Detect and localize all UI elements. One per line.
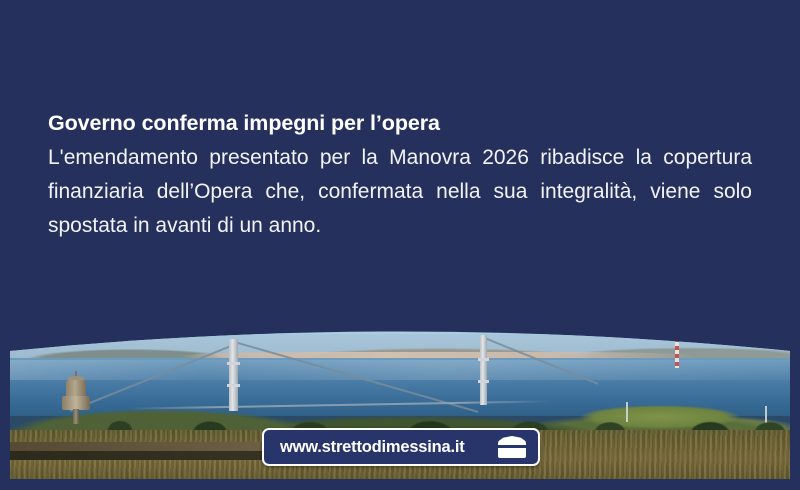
text-block: Governo conferma impegni per l’opera L'e… (48, 108, 752, 243)
sea-shimmer (10, 360, 790, 380)
news-card: Governo conferma impegni per l’opera L'e… (0, 0, 800, 490)
website-url[interactable]: www.strettodimessina.it (280, 438, 465, 457)
logo-arch-lower (498, 448, 526, 458)
website-banner[interactable]: www.strettodimessina.it (262, 428, 540, 466)
striped-chimney (675, 338, 679, 368)
stone-water-tower (62, 376, 90, 424)
body-paragraph: L'emendamento presentato per la Manovra … (48, 141, 752, 243)
page-title: Governo conferma impegni per l’opera (48, 108, 752, 138)
water-tower-pedestal (73, 409, 79, 424)
tower-left-crossbeam-upper (227, 362, 240, 365)
tower-right-crossbeam-upper (478, 358, 489, 361)
bridge-arch-logo-icon (498, 434, 526, 460)
tower-right-crossbeam-lower (478, 380, 489, 383)
water-tower-tank (62, 396, 90, 410)
tower-left-crossbeam-lower (227, 384, 240, 387)
